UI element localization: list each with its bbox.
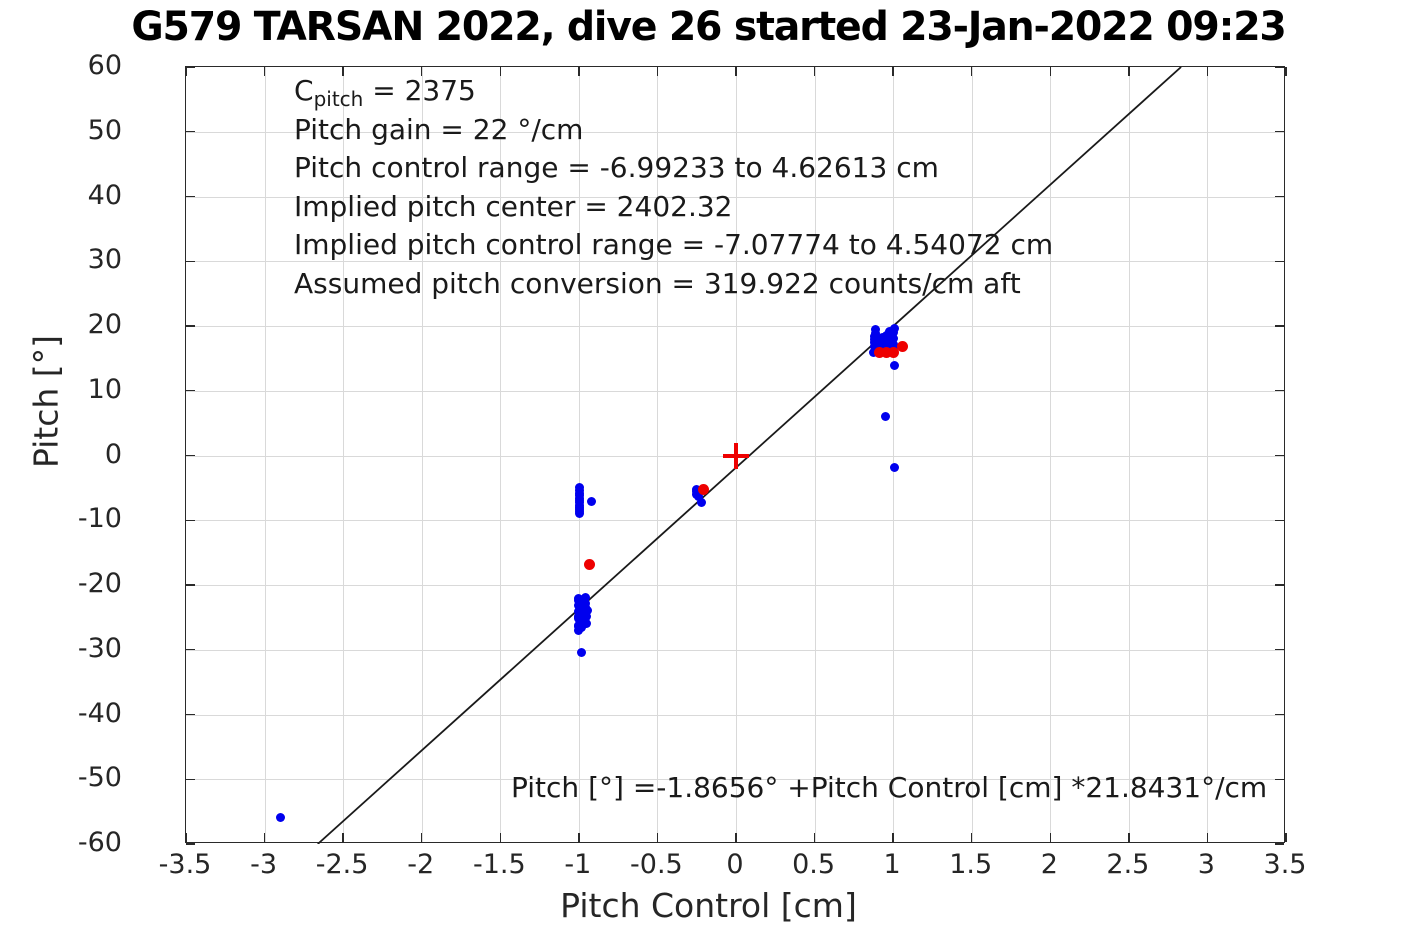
data-point <box>873 334 882 343</box>
x-tick-label: 2.5 <box>1106 851 1149 878</box>
y-tick-mark <box>1275 131 1284 132</box>
data-point <box>577 648 586 657</box>
y-tick-mark <box>186 131 195 132</box>
x-axis-title: Pitch Control [cm] <box>0 886 1417 925</box>
y-tick-mark <box>1275 843 1284 844</box>
c-pitch-symbol: C <box>294 74 314 107</box>
x-tick-mark <box>657 833 658 842</box>
y-tick-label: -20 <box>78 570 122 597</box>
annotation-assumed-pitch-conversion: Assumed pitch conversion = 319.922 count… <box>294 265 1053 304</box>
y-tick-mark <box>186 649 195 650</box>
x-tick-label: 1.5 <box>949 851 992 878</box>
y-tick-mark <box>186 714 195 715</box>
data-point <box>587 497 596 506</box>
x-tick-mark <box>1207 833 1208 842</box>
x-tick-label: 3 <box>1198 851 1215 878</box>
y-tick-mark <box>1275 66 1284 67</box>
annotation-pitch-gain: Pitch gain = 22 °/cm <box>294 111 1053 150</box>
y-tick-label: -10 <box>78 505 122 532</box>
page-title: G579 TARSAN 2022, dive 26 started 23-Jan… <box>11 2 1407 52</box>
plot-area: Cpitch = 2375 Pitch gain = 22 °/cm Pitch… <box>185 66 1285 843</box>
annotation-implied-pitch-control-range: Implied pitch control range = -7.07774 t… <box>294 226 1053 265</box>
data-point <box>574 612 583 621</box>
y-tick-mark <box>186 584 195 585</box>
y-tick-mark <box>1275 390 1284 391</box>
x-tick-mark <box>342 833 343 842</box>
y-tick-mark <box>186 843 195 844</box>
x-tick-mark <box>185 67 186 76</box>
y-tick-mark <box>1275 584 1284 585</box>
y-tick-mark <box>1275 779 1284 780</box>
y-tick-label: 20 <box>88 311 122 338</box>
x-tick-mark <box>185 833 186 842</box>
x-tick-mark <box>264 833 265 842</box>
annotation-pitch-control-range: Pitch control range = -6.99233 to 4.6261… <box>294 149 1053 188</box>
y-tick-label: -50 <box>78 764 122 791</box>
x-tick-mark <box>1285 833 1286 842</box>
y-tick-mark <box>1275 455 1284 456</box>
x-tick-mark <box>1050 833 1051 842</box>
x-tick-label: -0.5 <box>630 851 683 878</box>
x-tick-label: -2 <box>407 851 434 878</box>
y-axis-title: Pitch [°] <box>27 142 66 662</box>
y-tick-mark <box>186 325 195 326</box>
stats-annotation: Cpitch = 2375 Pitch gain = 22 °/cm Pitch… <box>294 72 1053 303</box>
x-tick-mark <box>1128 67 1129 76</box>
x-tick-label: 1 <box>884 851 901 878</box>
x-tick-mark <box>892 833 893 842</box>
y-tick-mark <box>186 520 195 521</box>
data-point <box>698 484 709 495</box>
x-tick-mark <box>1285 67 1286 76</box>
x-tick-label: 0 <box>726 851 743 878</box>
x-tick-label: 2 <box>1041 851 1058 878</box>
x-tick-mark <box>1128 833 1129 842</box>
c-pitch-subscript: pitch <box>314 87 364 111</box>
x-tick-mark <box>264 67 265 76</box>
annotation-implied-pitch-center: Implied pitch center = 2402.32 <box>294 188 1053 227</box>
y-tick-label: 60 <box>88 52 122 79</box>
x-tick-mark <box>421 833 422 842</box>
annotation-c-pitch: Cpitch = 2375 <box>294 72 1053 111</box>
x-tick-label: -2.5 <box>316 851 369 878</box>
y-tick-mark <box>1275 649 1284 650</box>
x-tick-label: -1.5 <box>473 851 526 878</box>
data-point <box>581 593 590 602</box>
x-tick-mark <box>578 833 579 842</box>
y-tick-label: 30 <box>88 246 122 273</box>
data-point <box>697 498 706 507</box>
x-tick-label: 3.5 <box>1264 851 1307 878</box>
x-tick-mark <box>814 833 815 842</box>
data-point <box>276 813 285 822</box>
y-tick-label: -60 <box>78 829 122 856</box>
y-tick-mark <box>1275 520 1284 521</box>
y-tick-label: -30 <box>78 635 122 662</box>
y-tick-mark <box>1275 261 1284 262</box>
origin-crosshair-vertical <box>734 443 738 469</box>
y-tick-mark <box>186 66 195 67</box>
x-tick-label: -1 <box>564 851 591 878</box>
x-tick-label: -3 <box>250 851 277 878</box>
y-tick-mark <box>186 261 195 262</box>
y-tick-label: -40 <box>78 700 122 727</box>
x-tick-mark <box>1207 67 1208 76</box>
data-point <box>575 483 584 492</box>
x-tick-label: 0.5 <box>792 851 835 878</box>
x-tick-mark <box>500 833 501 842</box>
y-tick-mark <box>186 196 195 197</box>
x-tick-mark <box>971 833 972 842</box>
y-tick-mark <box>186 390 195 391</box>
x-tick-mark <box>735 833 736 842</box>
y-tick-label: 50 <box>88 117 122 144</box>
y-tick-label: 10 <box>88 376 122 403</box>
y-tick-mark <box>1275 196 1284 197</box>
c-pitch-value: = 2375 <box>363 74 476 107</box>
data-point <box>881 412 890 421</box>
y-tick-mark <box>1275 325 1284 326</box>
x-tick-label: -3.5 <box>159 851 212 878</box>
y-tick-label: 0 <box>105 441 122 468</box>
y-tick-label: 40 <box>88 182 122 209</box>
y-tick-mark <box>186 455 195 456</box>
chart-page: G579 TARSAN 2022, dive 26 started 23-Jan… <box>0 0 1417 945</box>
y-tick-mark <box>1275 714 1284 715</box>
fit-equation-annotation: Pitch [°] =-1.8656° +Pitch Control [cm] … <box>511 769 1267 807</box>
y-tick-mark <box>186 779 195 780</box>
